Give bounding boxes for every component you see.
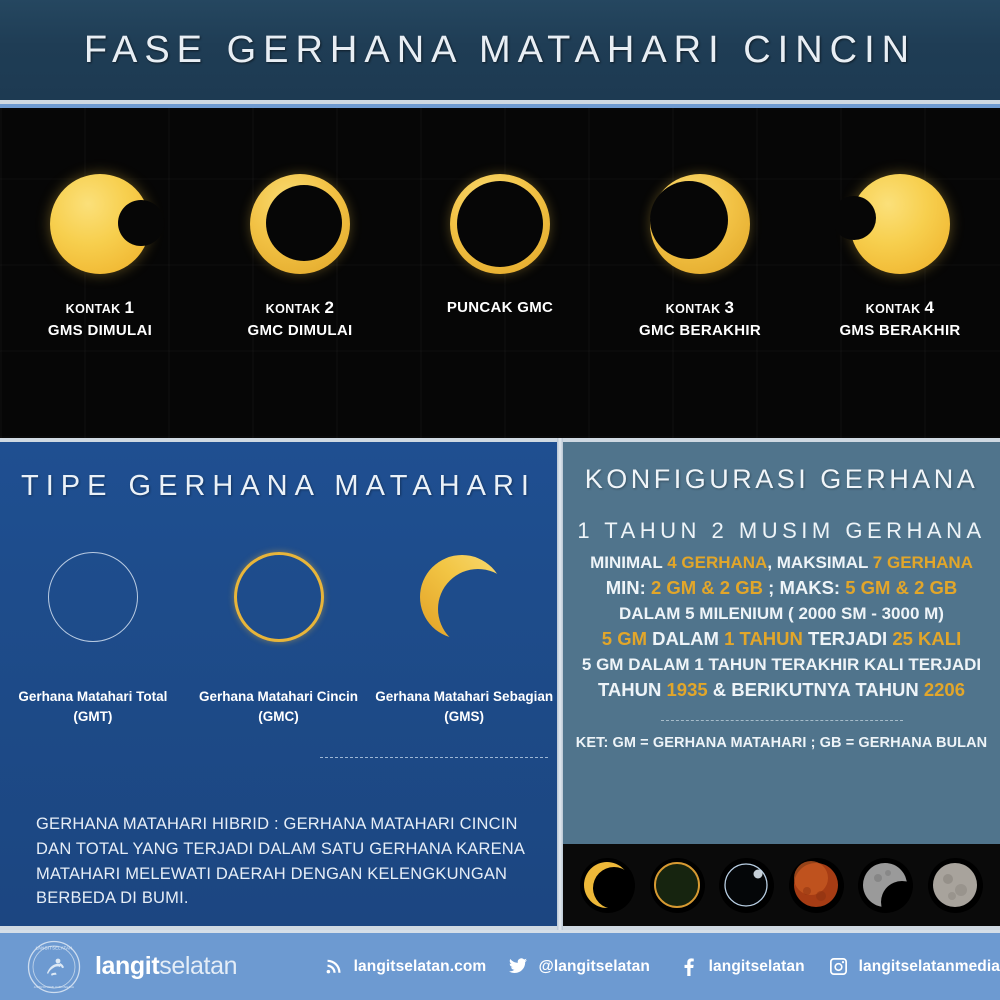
phase-item-3: PUNCAK GMC — [400, 108, 600, 438]
eclipse-phases-section: KONTAK 1 GMS DIMULAI KONTAK 2 GMC DIMU — [0, 108, 1000, 438]
hybrid-eclipse-note: GERHANA MATAHARI HIBRID : GERHANA MATAHA… — [36, 812, 536, 911]
link-instagram[interactable]: langitselatanmedia — [828, 957, 1000, 977]
phase-description-2: GMC DIMULAI — [248, 321, 353, 342]
annular-ring-even-icon — [446, 170, 554, 278]
gold-crescent-icon — [416, 549, 512, 645]
partial-sun-small-bite-icon — [46, 170, 154, 278]
twitter-icon — [508, 957, 530, 977]
social-links: langitselatan.com @langitselatan langits… — [315, 957, 1000, 977]
eclipse-types-panel: TIPE GERHANA MATAHARI Gerhana Matahari T… — [0, 438, 557, 930]
phase-item-2: KONTAK 2 GMC DIMULAI — [200, 108, 400, 438]
phase-description-1: GMS DIMULAI — [48, 321, 152, 342]
eclipse-config-panel: KONFIGURASI GERHANA 1 TAHUN 2 MUSIM GERH… — [563, 438, 1000, 930]
partial-sun-small-bite-left-icon — [846, 170, 954, 278]
phase-contact-label-5: KONTAK 4 — [839, 296, 960, 319]
phase-item-1: KONTAK 1 GMS DIMULAI — [0, 108, 200, 438]
type-abbr-gmc: (GMC) — [199, 707, 358, 727]
phase-item-4: KONTAK 3 GMC BERAKHIR — [600, 108, 800, 438]
config-line-seasons: 1 TAHUN 2 MUSIM GERHANA — [577, 515, 986, 551]
legend-note: KET: GM = GERHANA MATAHARI ; GB = GERHAN… — [563, 735, 1000, 751]
link-facebook[interactable]: langitselatan — [678, 957, 828, 977]
svg-text:ASTRONOMI INDONESIA: ASTRONOMI INDONESIA — [34, 985, 75, 989]
link-instagram-label: langitselatanmedia — [859, 958, 1000, 976]
header-banner: FASE GERHANA MATAHARI CINCIN — [0, 0, 1000, 104]
dashed-divider-right — [661, 720, 903, 721]
phase-contact-label-4: KONTAK 3 — [639, 296, 761, 319]
annular-ring-thick-left-icon — [246, 170, 354, 278]
type-item-gms: Gerhana Matahari Sebagian (GMS) — [371, 549, 557, 728]
phase-contact-label-2: KONTAK 2 — [248, 296, 353, 319]
penumbral-full-moon-photo — [928, 858, 983, 913]
types-panel-title: TIPE GERHANA MATAHARI — [0, 470, 557, 503]
config-line-5gm: 5 GM DALAM 1 TAHUN TERJADI 25 KALI — [577, 626, 986, 653]
infographic-page: FASE GERHANA MATAHARI CINCIN KONTAK 1 GM… — [0, 0, 1000, 1000]
type-name-gms: Gerhana Matahari Sebagian — [375, 687, 553, 707]
lower-section: TIPE GERHANA MATAHARI Gerhana Matahari T… — [0, 438, 1000, 930]
config-line-minmax: MINIMAL 4 GERHANA, MAKSIMAL 7 GERHANA — [577, 551, 986, 575]
phase-contact-label-1: KONTAK 1 — [48, 296, 152, 319]
total-solar-corona-photo — [719, 858, 774, 913]
phase-item-5: KONTAK 4 GMS BERAKHIR — [800, 108, 1000, 438]
type-abbr-gmt: (GMT) — [18, 707, 167, 727]
link-twitter[interactable]: @langitselatan — [508, 957, 678, 977]
phase-description-5: GMS BERAKHIR — [839, 321, 960, 342]
gold-ring-icon — [231, 549, 327, 645]
type-name-gmt: Gerhana Matahari Total — [18, 687, 167, 707]
link-website[interactable]: langitselatan.com — [323, 957, 508, 977]
langitselatan-seal-icon: LANGITSELATAN ASTRONOMI INDONESIA — [27, 940, 81, 994]
svg-text:LANGITSELATAN: LANGITSELATAN — [36, 945, 73, 950]
type-abbr-gms: (GMS) — [375, 707, 553, 727]
link-website-label: langitselatan.com — [354, 958, 487, 976]
link-facebook-label: langitselatan — [709, 958, 805, 976]
type-item-gmc: Gerhana Matahari Cincin (GMC) — [186, 549, 372, 728]
dark-disc-outline-icon — [45, 549, 141, 645]
eclipse-photo-strip — [563, 844, 1000, 926]
annular-eclipse-photo — [650, 858, 705, 913]
partial-lunar-eclipse-photo — [858, 858, 913, 913]
dashed-divider-left — [320, 757, 548, 758]
phase-contact-label-3: PUNCAK GMC — [447, 298, 553, 319]
type-item-gmt: Gerhana Matahari Total (GMT) — [0, 549, 186, 728]
config-line-last-a: 5 GM DALAM 1 TAHUN TERAKHIR KALI TERJADI — [577, 653, 986, 677]
facebook-icon — [678, 957, 700, 977]
blood-moon-total-lunar-photo — [789, 858, 844, 913]
config-line-milenium: DALAM 5 MILENIUM ( 2000 SM - 3000 M) — [577, 602, 986, 626]
footer-bar: LANGITSELATAN ASTRONOMI INDONESIA langit… — [0, 930, 1000, 1000]
type-name-gmc: Gerhana Matahari Cincin — [199, 687, 358, 707]
config-line-last-b: TAHUN 1935 & BERIKUTNYA TAHUN 2206 — [577, 677, 986, 704]
partial-solar-crescent-photo — [580, 858, 635, 913]
config-panel-title: KONFIGURASI GERHANA — [563, 464, 1000, 495]
config-line-minmaks: MIN: 2 GM & 2 GB ; MAKS: 5 GM & 2 GB — [577, 575, 986, 602]
page-title: FASE GERHANA MATAHARI CINCIN — [84, 29, 916, 72]
instagram-icon — [828, 957, 850, 977]
annular-ring-thick-right-icon — [646, 170, 754, 278]
rss-icon — [323, 957, 345, 977]
phase-description-4: GMC BERAKHIR — [639, 321, 761, 342]
brand-block[interactable]: LANGITSELATAN ASTRONOMI INDONESIA langit… — [27, 940, 315, 994]
link-twitter-label: @langitselatan — [539, 958, 650, 976]
brand-wordmark: langitselatan — [95, 952, 237, 981]
